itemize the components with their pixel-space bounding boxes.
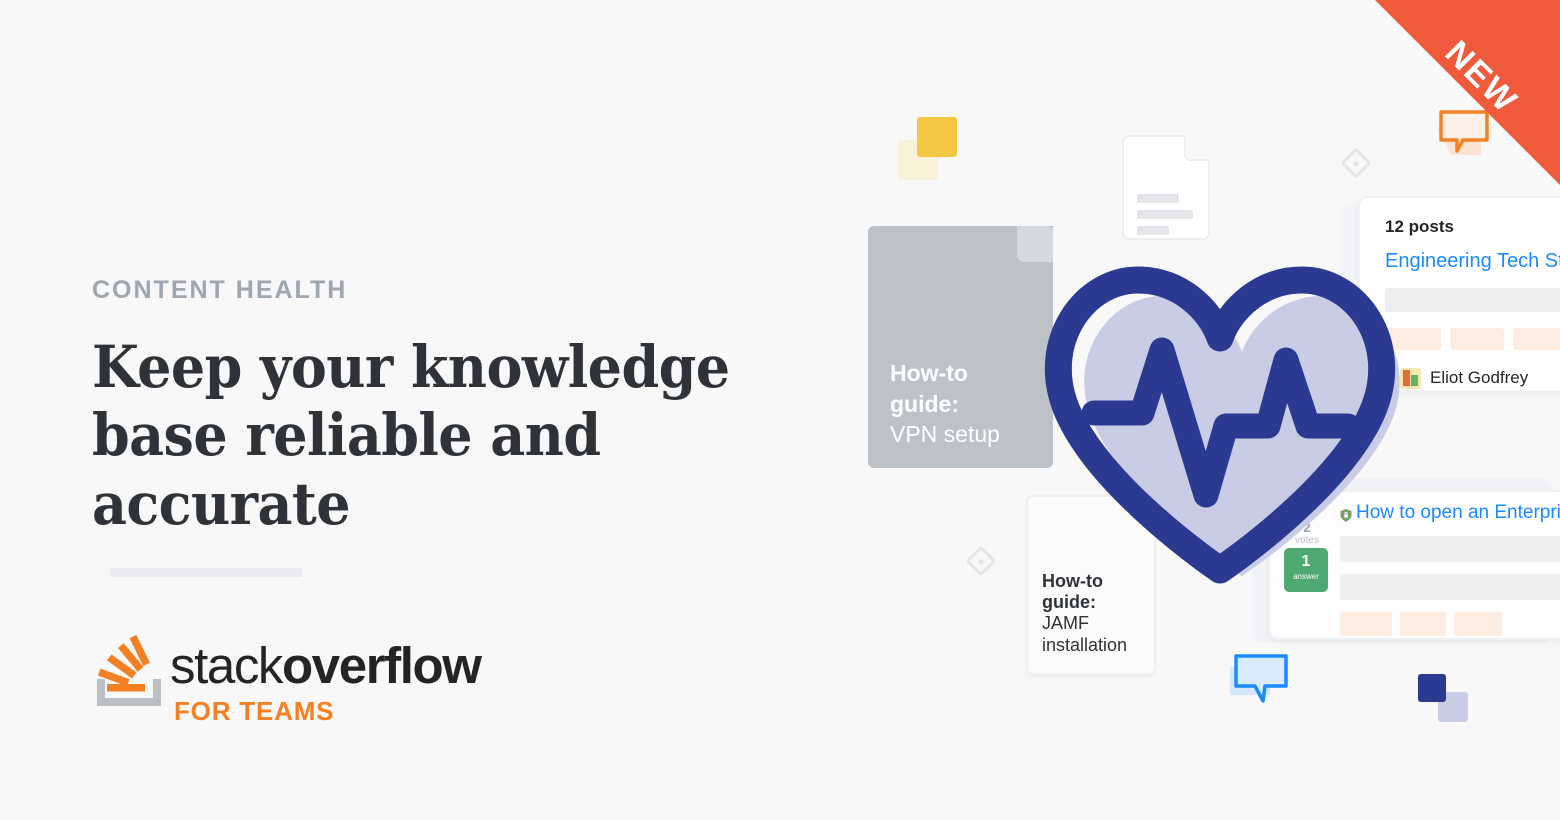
logo-for-teams: FOR TEAMS — [174, 696, 334, 727]
tag-chip[interactable] — [1400, 612, 1446, 636]
howto-card-vpn-text: How-to guide: VPN setup — [890, 358, 1040, 450]
posts-author: Eliot Godfrey — [1430, 368, 1528, 388]
divider — [110, 568, 302, 577]
document-text-line — [1137, 226, 1169, 235]
howto-card-vpn-subtitle: VPN setup — [890, 419, 1040, 450]
posts-count: 12 posts — [1385, 217, 1454, 237]
heart-pulse-icon — [1030, 240, 1430, 600]
decorative-square-navy — [1418, 674, 1446, 702]
document-fold-corner — [1184, 135, 1210, 161]
tag-chip[interactable] — [1340, 612, 1392, 636]
copy-block: CONTENT HEALTH Keep your knowledge base … — [92, 278, 852, 538]
howto-card-jamf-subtitle: JAMF installation — [1042, 613, 1152, 655]
document-icon — [1122, 135, 1210, 240]
marketing-banner: CONTENT HEALTH Keep your knowledge base … — [0, 0, 1560, 820]
tag-chip[interactable] — [1513, 328, 1560, 350]
logo-wordmark: stackoverflow — [170, 640, 481, 691]
stack-overflow-icon — [92, 632, 170, 710]
document-text-line — [1137, 194, 1179, 203]
stack-overflow-logo: stackoverflow FOR TEAMS — [92, 628, 512, 733]
diamond-icon — [1340, 147, 1371, 178]
page-title: Keep your knowledge base reliable and ac… — [92, 333, 799, 538]
tag-chip[interactable] — [1450, 328, 1504, 350]
diamond-icon — [965, 545, 996, 576]
illustration: How-to guide: VPN setup 12 posts Enginee… — [840, 0, 1560, 820]
eyebrow-label: CONTENT HEALTH — [92, 278, 852, 303]
howto-card-vpn: How-to guide: VPN setup — [868, 226, 1053, 468]
speech-bubble-orange-icon — [1433, 110, 1491, 158]
speech-bubble-blue-icon — [1228, 653, 1290, 705]
decorative-square-yellow — [917, 117, 957, 157]
tag-chip[interactable] — [1454, 612, 1502, 636]
logo-word-overflow: overflow — [282, 637, 481, 694]
logo-word-stack: stack — [170, 637, 282, 694]
howto-card-vpn-title: How-to guide: — [890, 358, 1040, 419]
document-text-line — [1137, 210, 1193, 219]
